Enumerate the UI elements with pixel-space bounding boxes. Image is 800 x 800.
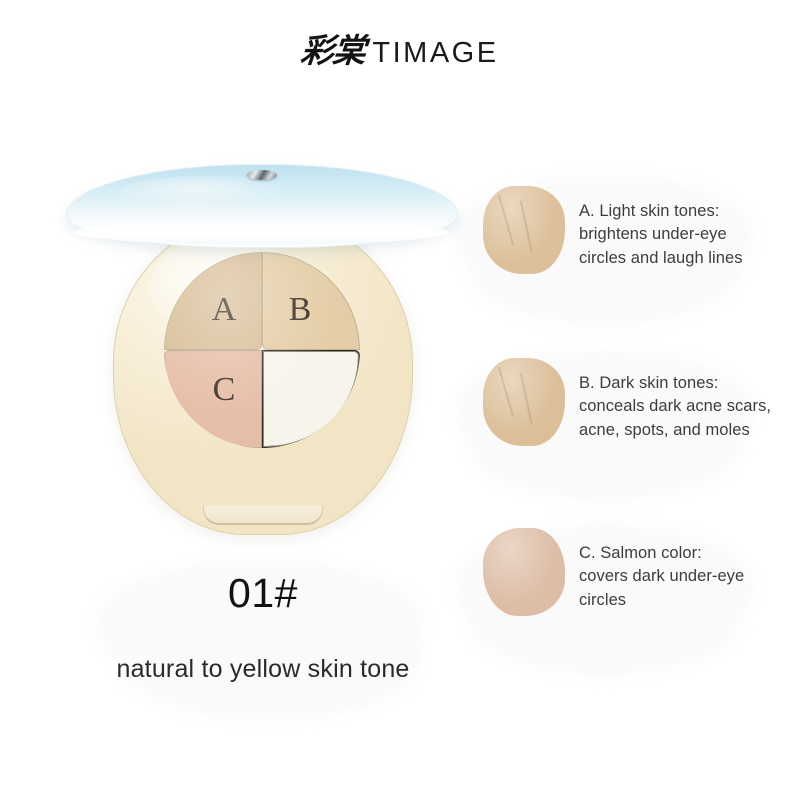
swatch-fold-line <box>520 201 532 252</box>
swatch-fold-line <box>520 373 532 424</box>
pan-quadrants: A B C <box>164 252 360 448</box>
swatch-a-line-3: circles and laugh lines <box>579 247 793 270</box>
swatch-a-line-1: A. Light skin tones: <box>579 200 793 223</box>
swatch-b-line-2: conceals dark acne scars, <box>579 395 793 418</box>
lid-rim <box>75 219 449 245</box>
product-detail-page: 彩棠 TIMAGE A B C <box>0 0 800 800</box>
swatch-c-line-3: circles <box>579 589 793 612</box>
swatch-c-description: C. Salmon color: covers dark under-eye c… <box>579 528 793 612</box>
swatch-a-line-2: brightens under-eye <box>579 223 793 246</box>
swatch-a <box>483 186 565 274</box>
swatch-row-a: A. Light skin tones: brightens under-eye… <box>483 186 793 274</box>
swatch-c-line-1: C. Salmon color: <box>579 542 793 565</box>
swatch-c <box>483 528 565 616</box>
lid-clasp-icon <box>247 170 277 180</box>
swatch-b <box>483 358 565 446</box>
swatch-b-line-3: acne, spots, and moles <box>579 419 793 442</box>
pan-b-label: B <box>289 293 312 327</box>
swatch-row-c: C. Salmon color: covers dark under-eye c… <box>483 528 793 616</box>
brand-logo-latin: TIMAGE <box>372 37 498 70</box>
shade-caption: natural to yellow skin tone <box>38 655 488 684</box>
swatch-a-color <box>483 186 565 274</box>
swatch-c-color <box>483 528 565 616</box>
swatch-b-color <box>483 358 565 446</box>
pan-a-label: A <box>212 293 237 327</box>
shade-code: 01# <box>58 570 468 617</box>
pan-c-label: C <box>213 373 236 407</box>
swatch-b-line-1: B. Dark skin tones: <box>579 372 793 395</box>
swatch-c-line-2: covers dark under-eye <box>579 565 793 588</box>
swatch-fold-line <box>498 367 514 417</box>
brand-logo-chinese: 彩棠 <box>299 24 367 72</box>
swatch-a-description: A. Light skin tones: brightens under-eye… <box>579 186 793 270</box>
lid-highlight <box>122 176 286 206</box>
brand-logo: 彩棠 TIMAGE <box>0 24 800 72</box>
swatch-row-b: B. Dark skin tones: conceals dark acne s… <box>483 358 793 446</box>
compact-thumb-notch <box>203 506 323 525</box>
swatch-fold-line <box>498 195 514 245</box>
swatch-b-description: B. Dark skin tones: conceals dark acne s… <box>579 358 793 442</box>
compact-lid <box>66 164 458 248</box>
swatch-highlight <box>483 186 565 274</box>
swatch-highlight <box>483 528 565 616</box>
swatch-highlight <box>483 358 565 446</box>
compact-product-image: A B C <box>58 150 468 550</box>
